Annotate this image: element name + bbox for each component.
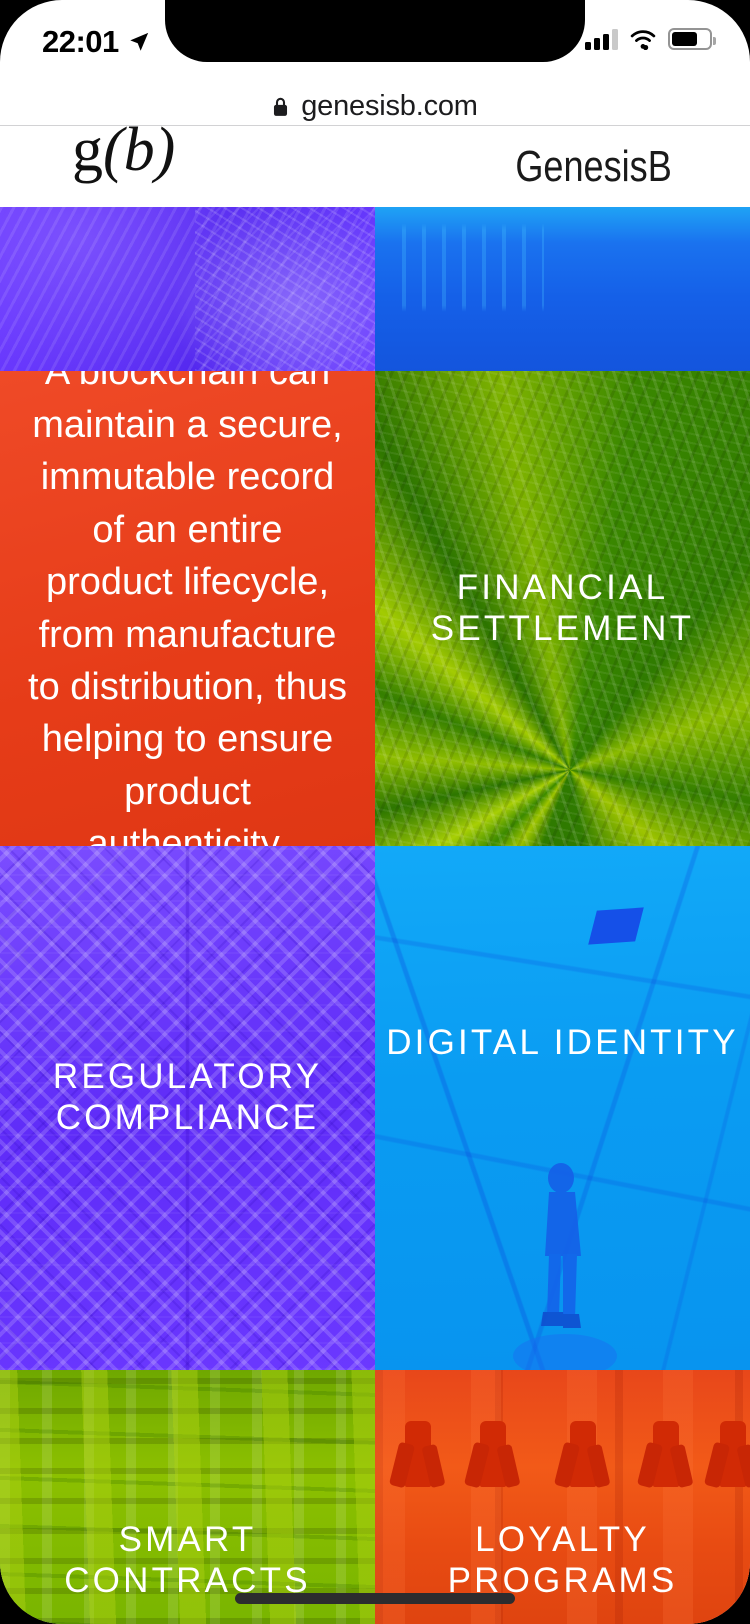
tile-financial-settlement[interactable]: FINANCIAL SETTLEMENT (375, 371, 750, 846)
device-notch (165, 0, 585, 62)
logo-letter-g: g (72, 116, 103, 184)
tile-digital-identity[interactable]: DIGITAL IDENTITY (375, 846, 750, 1370)
site-header: g(b) GenesisB (0, 127, 750, 207)
url-text: genesisb.com (301, 90, 478, 123)
phone-screen: 22:01 genesisb.com (0, 0, 750, 1624)
tile-top-left[interactable] (0, 207, 375, 371)
browser-url-bar[interactable]: genesisb.com (0, 88, 750, 126)
brand-name[interactable]: GenesisB (516, 145, 672, 189)
tile-top-right[interactable] (375, 207, 750, 371)
tile-supply-chain-text[interactable]: A blockchain can maintain a secure, immu… (0, 371, 375, 846)
blue-tile-accent (588, 907, 644, 944)
location-arrow-icon (128, 31, 150, 53)
wifi-icon (629, 29, 657, 50)
status-bar-right (585, 28, 712, 50)
logo-paren-b: (b) (103, 116, 175, 184)
blue-container-art (375, 207, 750, 371)
home-indicator-bar[interactable] (235, 1593, 515, 1604)
cyan-plaza-art (375, 846, 750, 1370)
purple-abstract-art (0, 207, 375, 371)
tile-smart-contracts[interactable]: SMART CONTRACTS (0, 1370, 375, 1624)
tile-loyalty-programs[interactable]: LOYALTY PROGRAMS (375, 1370, 750, 1624)
status-bar: 22:01 (0, 0, 750, 88)
digital-identity-label: DIGITAL IDENTITY (386, 1023, 739, 1064)
status-bar-left: 22:01 (42, 26, 150, 57)
battery-icon (668, 28, 712, 50)
regulatory-compliance-label: REGULATORY COMPLIANCE (0, 1057, 375, 1139)
pedestrian-figure-icon (503, 1160, 623, 1370)
smart-contracts-label: SMART CONTRACTS (0, 1520, 375, 1602)
tile-grid: A blockchain can maintain a secure, immu… (0, 207, 750, 1624)
financial-settlement-label: FINANCIAL SETTLEMENT (375, 568, 750, 650)
tile-regulatory-compliance[interactable]: REGULATORY COMPLIANCE (0, 846, 375, 1370)
cellular-signal-icon (585, 29, 618, 50)
status-clock: 22:01 (42, 26, 119, 57)
loyalty-programs-label: LOYALTY PROGRAMS (375, 1520, 750, 1602)
genesisb-logo[interactable]: g(b) (72, 119, 175, 181)
lock-icon (272, 96, 289, 117)
supply-chain-paragraph: A blockchain can maintain a secure, immu… (0, 371, 375, 846)
